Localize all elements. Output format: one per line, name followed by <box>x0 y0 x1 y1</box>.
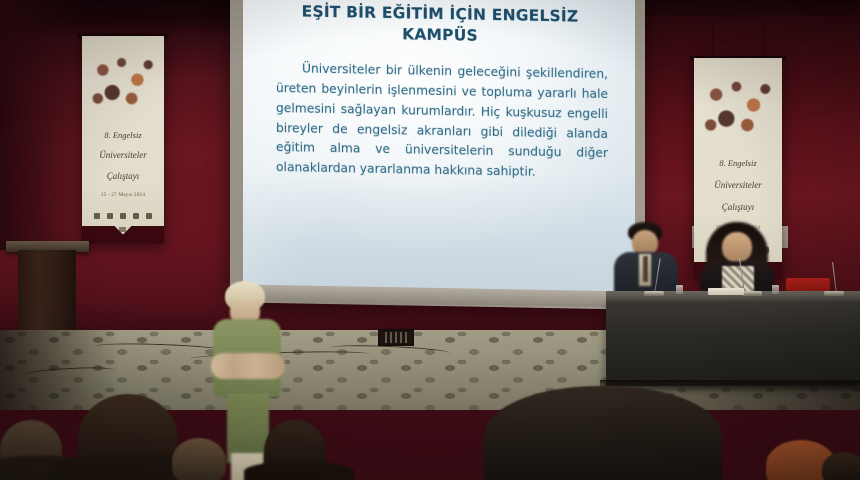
water-glass-1 <box>676 285 683 294</box>
banner-right-cord-a <box>712 20 713 58</box>
panelist-left-tie <box>643 256 648 282</box>
banner-left-sponsor-logos-row2 <box>89 223 158 235</box>
banner-left: 8. Engelsiz Üniversiteler Çalıştayı 25 -… <box>82 36 164 244</box>
banner-left-line3: Çalıştayı <box>82 171 164 181</box>
water-glass-2 <box>772 285 779 294</box>
banner-right-line3: Çalıştayı <box>694 202 782 212</box>
audience-head-5 <box>484 386 722 480</box>
av-equipment-box <box>378 329 414 346</box>
panelist-left <box>612 222 682 300</box>
upper-left-wall-shadow <box>0 0 90 250</box>
speaker-arms <box>211 353 285 379</box>
slide-body-text: Üniversiteler bir ülkenin geleceğini şek… <box>250 58 630 184</box>
panel-papers <box>708 288 744 295</box>
audience-head-3 <box>172 438 226 480</box>
microphone-base-3 <box>824 291 844 296</box>
audience-head-7 <box>822 452 860 480</box>
audience-shoulders-4 <box>244 462 354 480</box>
banner-left-cord-b <box>146 4 147 36</box>
banner-left-line2: Üniversiteler <box>82 150 164 160</box>
microphone-base-2 <box>742 291 762 296</box>
banner-left-artwork <box>87 46 159 121</box>
slide-title: EŞİT BİR EĞİTİM İÇİN ENGELSİZ KAMPÜS <box>250 0 630 49</box>
banner-right-line2: Üniversiteler <box>694 180 782 190</box>
banner-left-sponsor-logos <box>90 209 156 224</box>
banner-right-cord-b <box>764 20 765 58</box>
banner-left-date: 25 - 27 Mayıs 2024 <box>82 192 164 198</box>
presentation-slide: EŞİT BİR EĞİTİM İÇİN ENGELSİZ KAMPÜS Üni… <box>250 0 630 275</box>
banner-right-line1: 8. Engelsiz <box>694 158 782 168</box>
banner-left-cord-a <box>100 4 101 36</box>
panelist-right-head <box>722 232 752 262</box>
microphone-base-1 <box>644 291 664 296</box>
conference-hall-photo: EŞİT BİR EĞİTİM İÇİN ENGELSİZ KAMPÜS Üni… <box>0 0 860 480</box>
banner-left-line1: 8. Engelsiz <box>82 130 164 140</box>
banner-right-artwork <box>699 69 776 149</box>
panel-table-front <box>606 302 860 386</box>
